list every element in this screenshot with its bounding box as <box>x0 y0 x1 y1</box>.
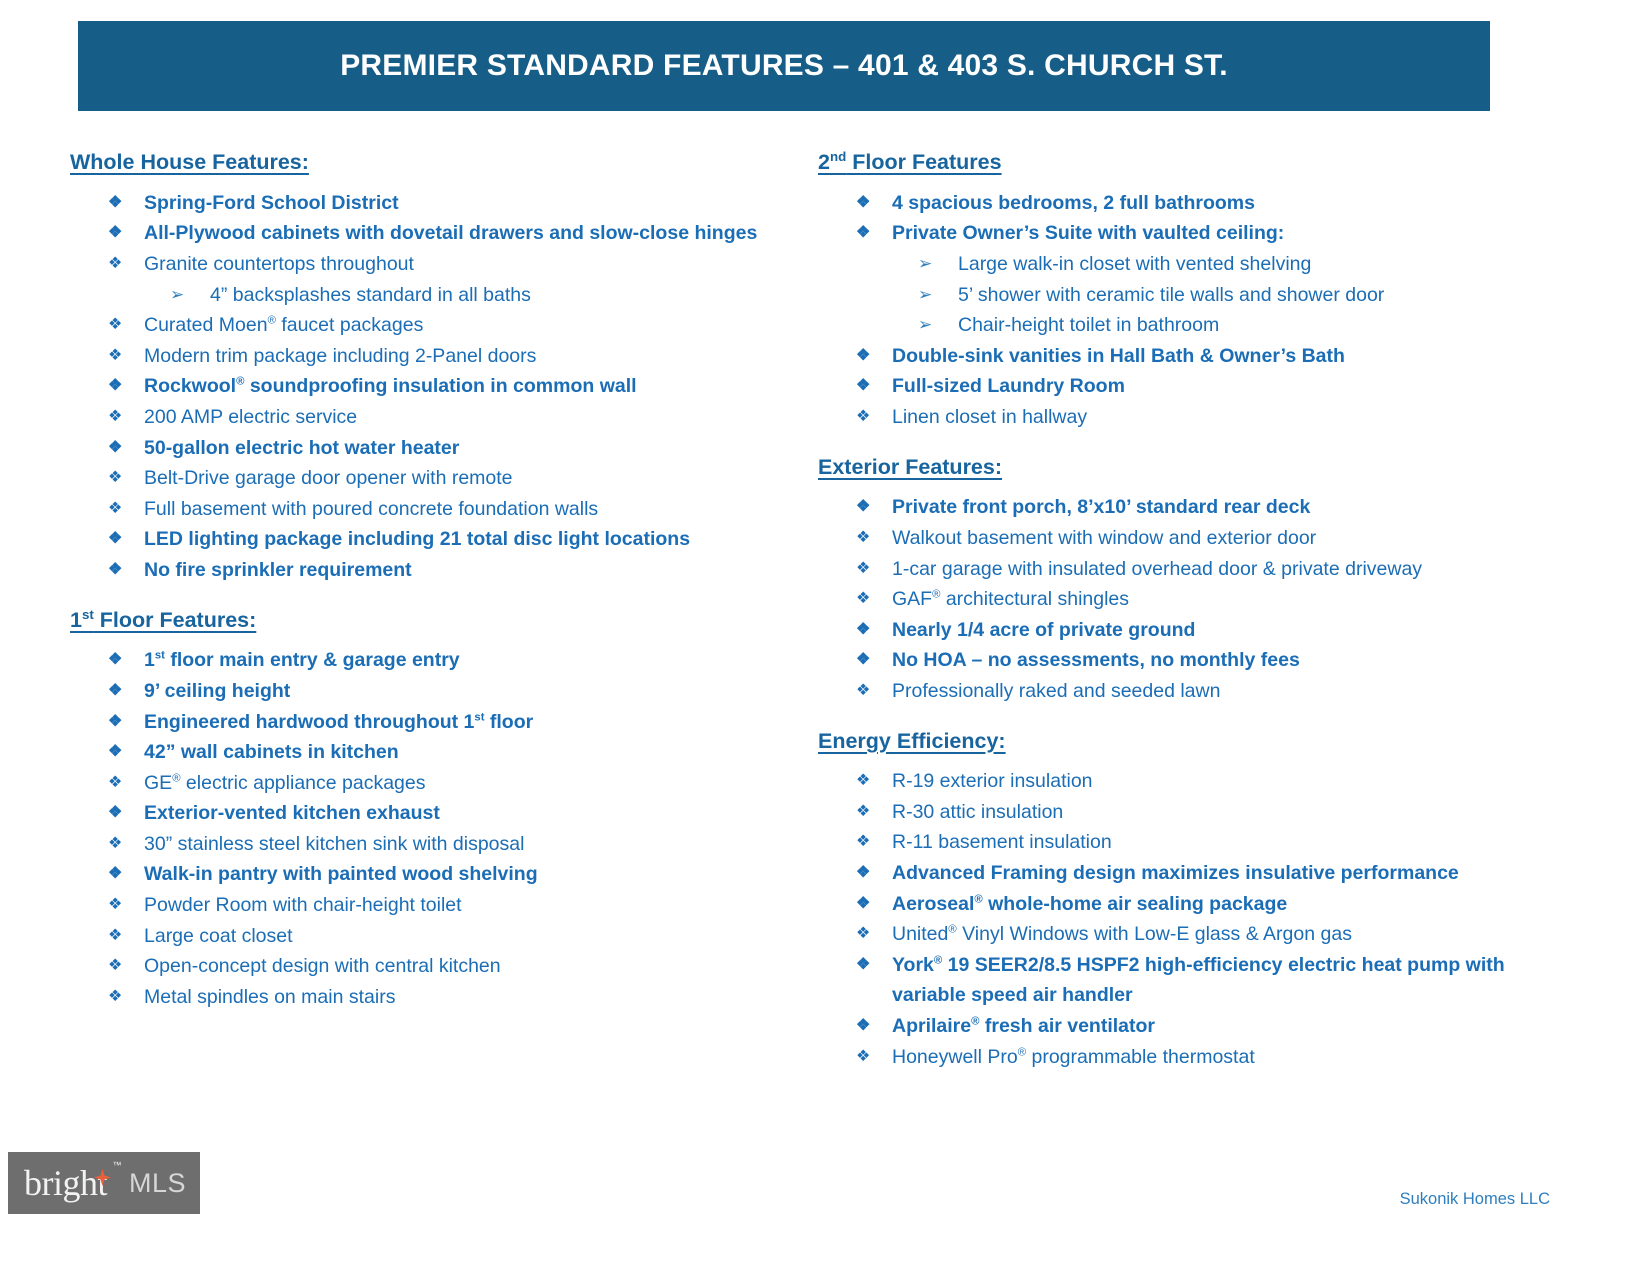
arrow-bullet-icon: ➢ <box>918 249 932 280</box>
diamond-bullet-icon: ❖ <box>856 1011 870 1042</box>
page-title: PREMIER STANDARD FEATURES – 401 & 403 S.… <box>340 49 1228 83</box>
feature-list-item: ❖Large coat closet <box>70 921 770 952</box>
diamond-bullet-icon: ❖ <box>108 676 122 707</box>
diamond-bullet-icon: ❖ <box>108 188 122 219</box>
logo-brand-word: bright <box>24 1163 107 1203</box>
feature-item-label: Powder Room with chair-height toilet <box>144 894 462 916</box>
diamond-bullet-icon: ❖ <box>108 829 122 860</box>
diamond-bullet-icon: ❖ <box>108 859 122 890</box>
feature-item-label: Professionally raked and seeded lawn <box>892 680 1220 702</box>
feature-list-item: ❖Aeroseal® whole-home air sealing packag… <box>818 889 1558 920</box>
feature-item-label: Curated Moen® faucet packages <box>144 314 423 336</box>
feature-item-label: Full-sized Laundry Room <box>892 375 1125 397</box>
feature-item-label: Metal spindles on main stairs <box>144 986 395 1008</box>
feature-item-label: R-19 exterior insulation <box>892 770 1093 792</box>
feature-list-item: ❖Walkout basement with window and exteri… <box>818 523 1558 554</box>
diamond-bullet-icon: ❖ <box>856 492 870 523</box>
diamond-bullet-icon: ❖ <box>108 402 122 433</box>
feature-item-label: Open-concept design with central kitchen <box>144 955 501 977</box>
diamond-bullet-icon: ❖ <box>108 890 122 921</box>
feature-item-label: Rockwool® soundproofing insulation in co… <box>144 375 637 397</box>
feature-sub-item-label: 4” backsplashes standard in all baths <box>210 284 531 306</box>
feature-item-label: United® Vinyl Windows with Low-E glass &… <box>892 923 1352 945</box>
diamond-bullet-icon: ❖ <box>108 524 122 555</box>
feature-list-item: ❖Powder Room with chair-height toilet <box>70 890 770 921</box>
feature-list-item: ❖4 spacious bedrooms, 2 full bathrooms <box>818 188 1558 219</box>
section-heading: Whole House Features: <box>70 150 770 176</box>
diamond-bullet-icon: ❖ <box>856 371 870 402</box>
arrow-bullet-icon: ➢ <box>170 280 184 311</box>
section-heading: 1st Floor Features: <box>70 608 770 634</box>
feature-list: ❖4 spacious bedrooms, 2 full bathrooms❖P… <box>818 188 1558 433</box>
feature-sub-item: ➢4” backsplashes standard in all baths <box>70 280 770 311</box>
diamond-bullet-icon: ❖ <box>108 982 122 1013</box>
feature-list-item: ❖Rockwool® soundproofing insulation in c… <box>70 371 770 402</box>
diamond-bullet-icon: ❖ <box>108 555 122 586</box>
feature-item-label: Modern trim package including 2-Panel do… <box>144 345 536 367</box>
feature-section: Energy Efficiency:❖R-19 exterior insulat… <box>818 729 1558 1073</box>
feature-sub-item-label: Chair-height toilet in bathroom <box>958 314 1219 336</box>
diamond-bullet-icon: ❖ <box>108 921 122 952</box>
feature-list-item: ❖200 AMP electric service <box>70 402 770 433</box>
diamond-bullet-icon: ❖ <box>108 707 122 738</box>
feature-list: ❖1st floor main entry & garage entry❖9’ … <box>70 645 770 1012</box>
right-column: 2nd Floor Features❖4 spacious bedrooms, … <box>818 150 1558 1072</box>
feature-list-item: ❖LED lighting package including 21 total… <box>70 524 770 555</box>
feature-list-item: ❖Spring-Ford School District <box>70 188 770 219</box>
diamond-bullet-icon: ❖ <box>108 218 122 249</box>
diamond-bullet-icon: ❖ <box>856 523 870 554</box>
feature-list: ❖R-19 exterior insulation❖R-30 attic ins… <box>818 766 1558 1072</box>
bright-mls-logo: bright ™ MLS <box>8 1152 200 1214</box>
feature-list-item: ❖No HOA – no assessments, no monthly fee… <box>818 645 1558 676</box>
feature-list-item: ❖Advanced Framing design maximizes insul… <box>818 858 1558 889</box>
feature-list-item: ❖R-11 basement insulation <box>818 827 1558 858</box>
feature-list-item: ❖United® Vinyl Windows with Low-E glass … <box>818 919 1558 950</box>
feature-item-label: Advanced Framing design maximizes insula… <box>892 862 1459 884</box>
feature-list-item: ❖1-car garage with insulated overhead do… <box>818 554 1558 585</box>
feature-item-label: 4 spacious bedrooms, 2 full bathrooms <box>892 192 1255 214</box>
feature-sub-item-label: Large walk-in closet with vented shelvin… <box>958 253 1311 275</box>
feature-list-item: ❖Exterior-vented kitchen exhaust <box>70 798 770 829</box>
feature-sub-item: ➢Chair-height toilet in bathroom <box>818 310 1558 341</box>
feature-section: Exterior Features:❖Private front porch, … <box>818 455 1558 707</box>
feature-item-label: Aprilaire® fresh air ventilator <box>892 1015 1155 1037</box>
arrow-bullet-icon: ➢ <box>918 280 932 311</box>
feature-list-item: ❖Curated Moen® faucet packages <box>70 310 770 341</box>
feature-item-label: 50-gallon electric hot water heater <box>144 437 459 459</box>
diamond-bullet-icon: ❖ <box>108 645 122 676</box>
left-column: Whole House Features:❖Spring-Ford School… <box>70 150 770 1012</box>
arrow-bullet-icon: ➢ <box>918 310 932 341</box>
feature-section: Whole House Features:❖Spring-Ford School… <box>70 150 770 586</box>
section-heading: Exterior Features: <box>818 455 1558 481</box>
diamond-bullet-icon: ❖ <box>856 950 870 981</box>
feature-list: ❖Private front porch, 8’x10’ standard re… <box>818 492 1558 706</box>
feature-section: 2nd Floor Features❖4 spacious bedrooms, … <box>818 150 1558 433</box>
page-header-banner: PREMIER STANDARD FEATURES – 401 & 403 S.… <box>78 21 1490 111</box>
feature-list: ❖Spring-Ford School District❖All-Plywood… <box>70 188 770 586</box>
diamond-bullet-icon: ❖ <box>108 463 122 494</box>
feature-item-label: Exterior-vented kitchen exhaust <box>144 802 440 824</box>
feature-list-item: ❖1st floor main entry & garage entry <box>70 645 770 676</box>
diamond-bullet-icon: ❖ <box>856 676 870 707</box>
feature-item-label: Private front porch, 8’x10’ standard rea… <box>892 496 1310 518</box>
diamond-bullet-icon: ❖ <box>108 433 122 464</box>
footer-credit: Sukonik Homes LLC <box>1400 1190 1550 1209</box>
feature-item-label: No fire sprinkler requirement <box>144 559 412 581</box>
feature-sub-item-label: 5’ shower with ceramic tile walls and sh… <box>958 284 1384 306</box>
feature-list-item: ❖Aprilaire® fresh air ventilator <box>818 1011 1558 1042</box>
feature-item-label: York® 19 SEER2/8.5 HSPF2 high-efficiency… <box>892 954 1505 1007</box>
feature-list-item: ❖Belt-Drive garage door opener with remo… <box>70 463 770 494</box>
feature-item-label: Linen closet in hallway <box>892 406 1087 428</box>
feature-list-item: ❖Modern trim package including 2-Panel d… <box>70 341 770 372</box>
section-heading: Energy Efficiency: <box>818 729 1558 755</box>
feature-list-item: ❖No fire sprinkler requirement <box>70 555 770 586</box>
feature-list-item: ❖R-30 attic insulation <box>818 797 1558 828</box>
diamond-bullet-icon: ❖ <box>856 584 870 615</box>
feature-item-label: R-11 basement insulation <box>892 831 1112 853</box>
feature-list-item: ❖Private Owner’s Suite with vaulted ceil… <box>818 218 1558 249</box>
feature-list-item: ❖Linen closet in hallway <box>818 402 1558 433</box>
trademark-mark: ™ <box>113 1161 122 1170</box>
feature-item-label: Full basement with poured concrete found… <box>144 498 598 520</box>
feature-list-item: ❖Open-concept design with central kitche… <box>70 951 770 982</box>
feature-item-label: R-30 attic insulation <box>892 801 1063 823</box>
diamond-bullet-icon: ❖ <box>856 797 870 828</box>
diamond-bullet-icon: ❖ <box>856 919 870 950</box>
feature-list-item: ❖GAF® architectural shingles <box>818 584 1558 615</box>
feature-list-item: ❖Full-sized Laundry Room <box>818 371 1558 402</box>
feature-item-label: Granite countertops throughout <box>144 253 414 275</box>
diamond-bullet-icon: ❖ <box>856 827 870 858</box>
diamond-bullet-icon: ❖ <box>856 615 870 646</box>
feature-sub-item: ➢5’ shower with ceramic tile walls and s… <box>818 280 1558 311</box>
feature-sub-item: ➢Large walk-in closet with vented shelvi… <box>818 249 1558 280</box>
feature-list-item: ❖50-gallon electric hot water heater <box>70 433 770 464</box>
feature-item-label: 9’ ceiling height <box>144 680 290 702</box>
diamond-bullet-icon: ❖ <box>856 645 870 676</box>
feature-item-label: Nearly 1/4 acre of private ground <box>892 619 1195 641</box>
feature-list-item: ❖Granite countertops throughout <box>70 249 770 280</box>
feature-item-label: GE® electric appliance packages <box>144 772 426 794</box>
feature-section: 1st Floor Features:❖1st floor main entry… <box>70 608 770 1013</box>
feature-list-item: ❖R-19 exterior insulation <box>818 766 1558 797</box>
feature-item-label: 30” stainless steel kitchen sink with di… <box>144 833 524 855</box>
content-columns: Whole House Features:❖Spring-Ford School… <box>0 150 1650 1150</box>
diamond-bullet-icon: ❖ <box>108 737 122 768</box>
feature-item-label: Engineered hardwood throughout 1st floor <box>144 711 533 733</box>
feature-item-label: Spring-Ford School District <box>144 192 399 214</box>
feature-item-label: No HOA – no assessments, no monthly fees <box>892 649 1300 671</box>
diamond-bullet-icon: ❖ <box>108 371 122 402</box>
diamond-bullet-icon: ❖ <box>856 1042 870 1073</box>
diamond-bullet-icon: ❖ <box>856 402 870 433</box>
feature-list-item: ❖42” wall cabinets in kitchen <box>70 737 770 768</box>
feature-list-item: ❖Private front porch, 8’x10’ standard re… <box>818 492 1558 523</box>
feature-item-label: Walkout basement with window and exterio… <box>892 527 1316 549</box>
feature-item-label: Aeroseal® whole-home air sealing package <box>892 893 1287 915</box>
feature-list-item: ❖9’ ceiling height <box>70 676 770 707</box>
feature-item-label: Walk-in pantry with painted wood shelvin… <box>144 863 538 885</box>
feature-item-label: GAF® architectural shingles <box>892 588 1129 610</box>
feature-list-item: ❖Double-sink vanities in Hall Bath & Own… <box>818 341 1558 372</box>
feature-item-label: LED lighting package including 21 total … <box>144 528 690 550</box>
feature-item-label: Double-sink vanities in Hall Bath & Owne… <box>892 345 1345 367</box>
feature-list-item: ❖Full basement with poured concrete foun… <box>70 494 770 525</box>
feature-item-label: Belt-Drive garage door opener with remot… <box>144 467 513 489</box>
feature-list-item: ❖Metal spindles on main stairs <box>70 982 770 1013</box>
feature-item-label: 200 AMP electric service <box>144 406 357 428</box>
feature-list-item: ❖30” stainless steel kitchen sink with d… <box>70 829 770 860</box>
feature-list-item: ❖Engineered hardwood throughout 1st floo… <box>70 707 770 738</box>
diamond-bullet-icon: ❖ <box>856 341 870 372</box>
feature-item-label: Large coat closet <box>144 925 293 947</box>
logo-suffix-text: MLS <box>129 1168 186 1199</box>
feature-list-item: ❖GE® electric appliance packages <box>70 768 770 799</box>
feature-item-label: All-Plywood cabinets with dovetail drawe… <box>144 222 757 244</box>
feature-list-item: ❖York® 19 SEER2/8.5 HSPF2 high-efficienc… <box>818 950 1558 1011</box>
diamond-bullet-icon: ❖ <box>856 218 870 249</box>
diamond-bullet-icon: ❖ <box>856 889 870 920</box>
diamond-bullet-icon: ❖ <box>108 341 122 372</box>
diamond-bullet-icon: ❖ <box>108 249 122 280</box>
diamond-bullet-icon: ❖ <box>108 798 122 829</box>
logo-brand-text: bright ™ <box>24 1165 107 1201</box>
feature-item-label: 42” wall cabinets in kitchen <box>144 741 399 763</box>
diamond-bullet-icon: ❖ <box>856 858 870 889</box>
feature-item-label: 1st floor main entry & garage entry <box>144 649 460 671</box>
feature-list-item: ❖Professionally raked and seeded lawn <box>818 676 1558 707</box>
feature-list-item: ❖All-Plywood cabinets with dovetail draw… <box>70 218 770 249</box>
feature-item-label: Honeywell Pro® programmable thermostat <box>892 1046 1255 1068</box>
feature-list-item: ❖Nearly 1/4 acre of private ground <box>818 615 1558 646</box>
feature-item-label: Private Owner’s Suite with vaulted ceili… <box>892 222 1284 244</box>
diamond-bullet-icon: ❖ <box>108 494 122 525</box>
diamond-bullet-icon: ❖ <box>856 188 870 219</box>
diamond-bullet-icon: ❖ <box>108 310 122 341</box>
diamond-bullet-icon: ❖ <box>108 768 122 799</box>
feature-list-item: ❖Honeywell Pro® programmable thermostat <box>818 1042 1558 1073</box>
diamond-bullet-icon: ❖ <box>108 951 122 982</box>
section-heading: 2nd Floor Features <box>818 150 1558 176</box>
diamond-bullet-icon: ❖ <box>856 766 870 797</box>
feature-list-item: ❖Walk-in pantry with painted wood shelvi… <box>70 859 770 890</box>
feature-item-label: 1-car garage with insulated overhead doo… <box>892 558 1422 580</box>
diamond-bullet-icon: ❖ <box>856 554 870 585</box>
